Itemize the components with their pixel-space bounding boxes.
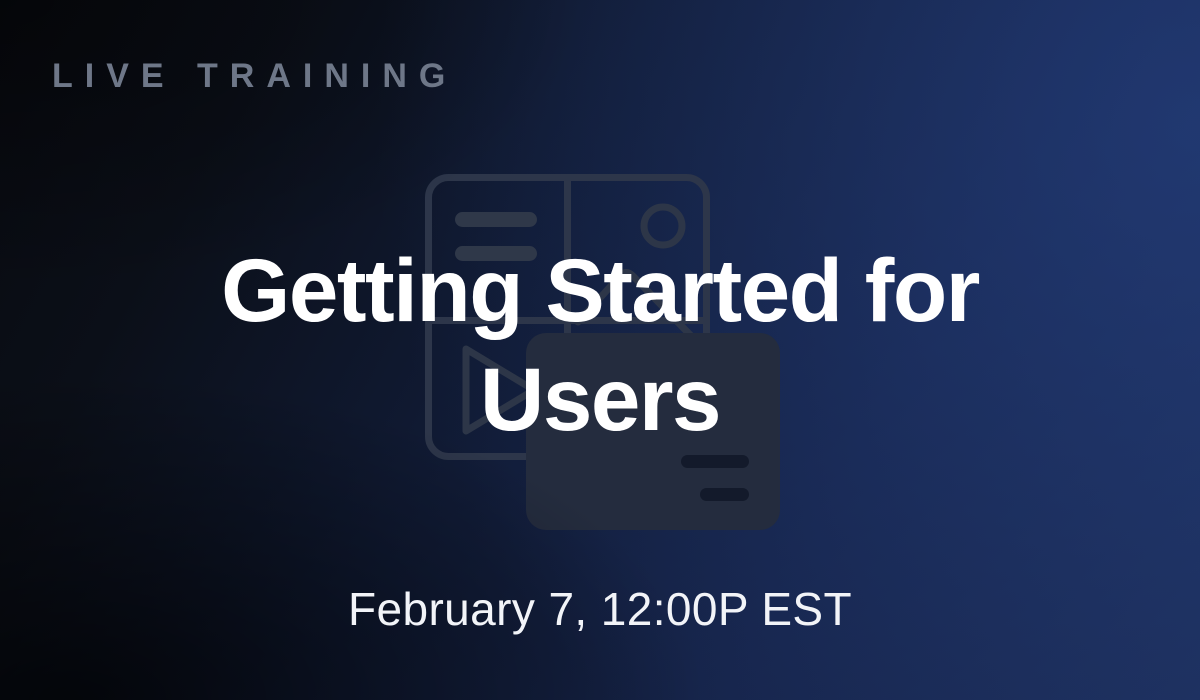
slide-content: LIVE TRAINING Getting Started for Users … — [0, 0, 1200, 700]
headline-line-1: Getting Started for — [110, 236, 1090, 345]
promo-slide: LIVE TRAINING Getting Started for Users … — [0, 0, 1200, 700]
event-datetime: February 7, 12:00P EST — [0, 582, 1200, 637]
headline-line-2: Users — [110, 345, 1090, 454]
eyebrow-label: LIVE TRAINING — [52, 58, 457, 95]
page-title: Getting Started for Users — [0, 236, 1200, 453]
